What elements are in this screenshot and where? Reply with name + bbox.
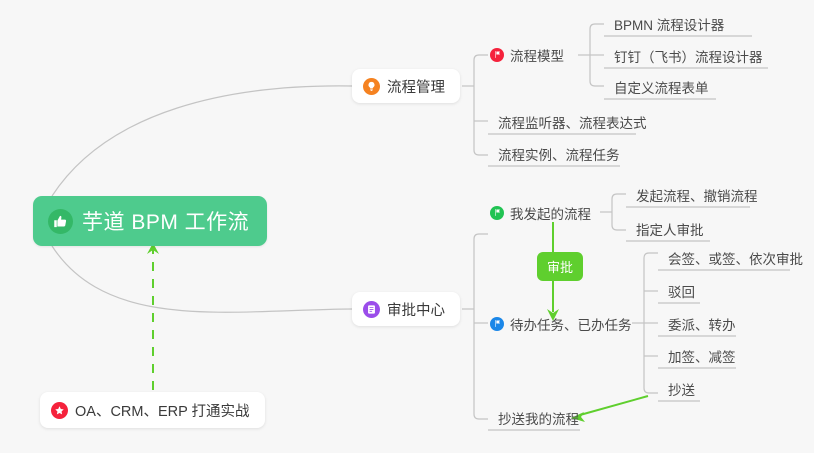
node-label: 我发起的流程	[510, 203, 591, 223]
flag-icon	[490, 317, 504, 331]
node-label: 抄送	[668, 379, 695, 399]
node-label: 发起流程、撤销流程	[636, 185, 758, 205]
node-label: 流程实例、流程任务	[498, 144, 620, 164]
lightbulb-icon	[363, 78, 380, 95]
link-process-mgmt-child-1	[474, 55, 488, 60]
link-todo-tasks-child-5	[644, 388, 658, 393]
mindmap-canvas: 芋道 BPM 工作流 流程管理 流程模型 BPMN 流程设计器 钉钉（飞书）流程…	[0, 0, 814, 453]
link-root-to-approval-center	[52, 246, 352, 312]
node-label: 驳回	[668, 281, 695, 301]
node-start-cancel-process[interactable]: 发起流程、撤销流程	[626, 181, 764, 208]
node-my-started-process[interactable]: 我发起的流程	[488, 199, 597, 226]
footnote-node-integration[interactable]: OA、CRM、ERP 打通实战	[40, 392, 265, 428]
flag-icon	[490, 48, 504, 62]
link-todo-tasks-child-1	[644, 253, 658, 258]
node-label: 钉钉（飞书）流程设计器	[614, 46, 763, 66]
link-process-model-child-1	[590, 24, 604, 29]
approval-tag-label: 审批	[547, 257, 573, 276]
node-label: 抄送我的流程	[498, 408, 579, 428]
node-process-model[interactable]: 流程模型	[488, 41, 570, 68]
node-todo-done-tasks[interactable]: 待办任务、已办任务	[488, 310, 638, 337]
link-process-mgmt-child-3	[474, 150, 488, 155]
node-label: 委派、转办	[668, 314, 736, 334]
footnote-label: OA、CRM、ERP 打通实战	[75, 400, 250, 421]
node-bpmn-designer[interactable]: BPMN 流程设计器	[604, 10, 730, 37]
branch-label: 流程管理	[387, 76, 445, 97]
node-dingtalk-designer[interactable]: 钉钉（飞书）流程设计器	[604, 42, 769, 69]
root-node[interactable]: 芋道 BPM 工作流	[33, 196, 267, 246]
node-label: BPMN 流程设计器	[614, 14, 724, 34]
node-label: 会签、或签、依次审批	[668, 248, 803, 268]
star-icon	[51, 402, 68, 419]
node-delegate-transfer[interactable]: 委派、转办	[658, 310, 742, 337]
clipboard-icon	[363, 301, 380, 318]
link-process-model-child-3	[590, 81, 604, 86]
node-instance-task[interactable]: 流程实例、流程任务	[488, 140, 626, 167]
link-approval-center-child-3	[474, 414, 488, 419]
approval-tag-badge[interactable]: 审批	[537, 252, 583, 281]
link-my-process-child-2	[612, 225, 626, 230]
branch-node-process-management[interactable]: 流程管理	[352, 69, 460, 103]
node-label: 加签、减签	[668, 346, 736, 366]
branch-node-approval-center[interactable]: 审批中心	[352, 292, 460, 326]
highlight-cc-arrow-line	[580, 396, 648, 415]
link-approval-center-child-1	[474, 234, 488, 239]
node-label: 流程监听器、流程表达式	[498, 112, 647, 132]
thumbs-up-icon	[48, 209, 73, 234]
node-add-remove-sign[interactable]: 加签、减签	[658, 342, 742, 369]
node-listener-expression[interactable]: 流程监听器、流程表达式	[488, 108, 653, 135]
node-custom-process-form[interactable]: 自定义流程表单	[604, 73, 715, 100]
branch-label: 审批中心	[387, 299, 445, 320]
root-label: 芋道 BPM 工作流	[82, 206, 249, 236]
flag-icon	[490, 206, 504, 220]
link-my-process-child-1	[612, 194, 626, 199]
node-assignee-approval[interactable]: 指定人审批	[626, 215, 710, 242]
node-label: 自定义流程表单	[614, 77, 709, 97]
link-root-to-process-mgmt	[52, 86, 352, 196]
node-label: 指定人审批	[636, 219, 704, 239]
node-label: 待办任务、已办任务	[510, 314, 632, 334]
node-cc-my-process[interactable]: 抄送我的流程	[488, 404, 585, 431]
node-label: 流程模型	[510, 45, 564, 65]
node-reject[interactable]: 驳回	[658, 277, 701, 304]
node-countersign[interactable]: 会签、或签、依次审批	[658, 244, 809, 271]
node-cc[interactable]: 抄送	[658, 375, 701, 402]
